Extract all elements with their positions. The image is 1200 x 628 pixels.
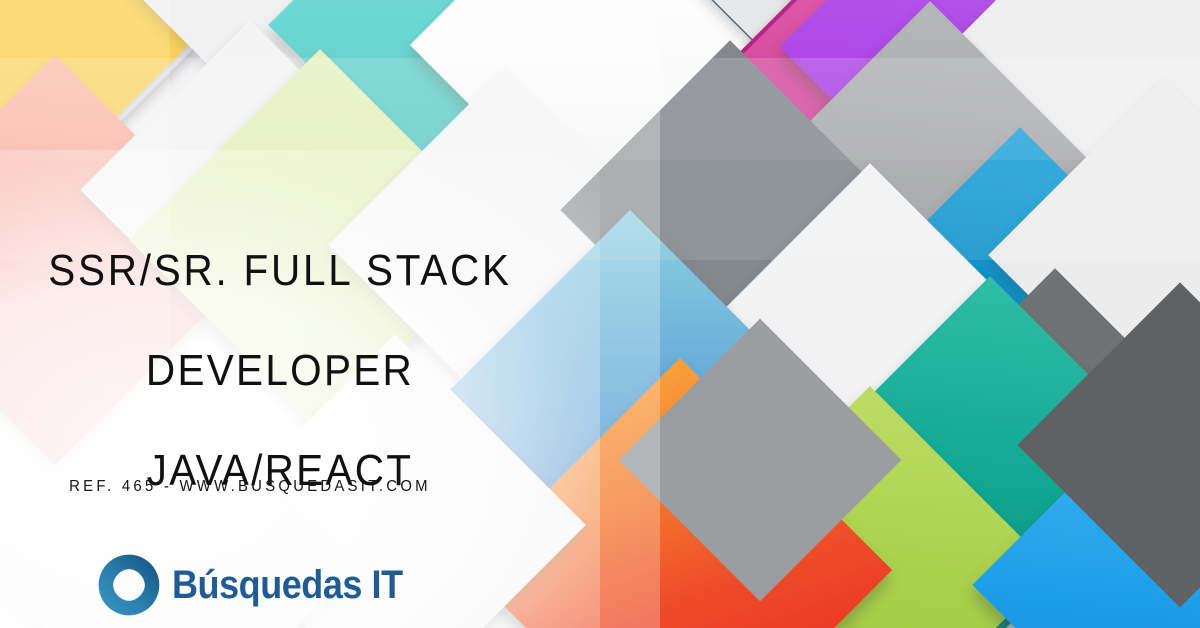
job-title-line-2: DEVELOPER — [22, 346, 537, 396]
reference-line: REF. 465 - WWW.BUSQUEDASIT.COM — [10, 478, 490, 496]
job-title-line-1: SSR/SR. FULL STACK — [22, 246, 537, 296]
busquedas-it-ring-icon — [96, 552, 162, 618]
brand-wordmark: Búsquedas IT — [172, 565, 403, 605]
poster-content: SSR/SR. FULL STACK DEVELOPER JAVA/REACT … — [0, 0, 1200, 628]
brand-logo: Búsquedas IT — [96, 552, 428, 618]
poster-canvas: SSR/SR. FULL STACK DEVELOPER JAVA/REACT … — [0, 0, 1200, 628]
